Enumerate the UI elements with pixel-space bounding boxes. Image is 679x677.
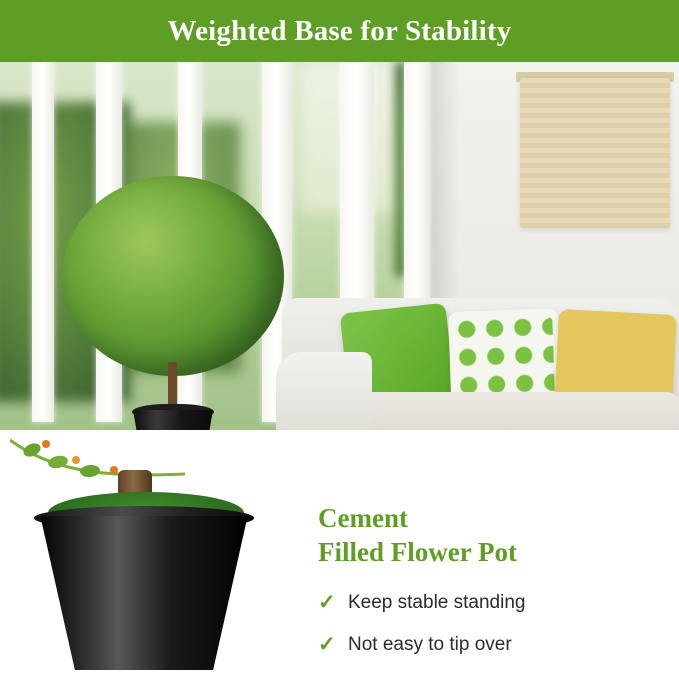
topiary-tree-foliage [62,176,284,376]
check-icon: ✓ [318,634,336,655]
product-feature-image: Weighted Base for Stability [0,0,679,677]
headline-line-1: Cement [318,502,658,536]
header-banner: Weighted Base for Stability [0,0,679,62]
check-icon: ✓ [318,592,336,613]
headline-line-2: Filled Flower Pot [318,536,658,570]
feature-bullet-list: ✓ Keep stable standing ✓ Not easy to tip… [318,592,658,656]
window-blind [32,62,54,422]
bullet-label: Keep stable standing [348,592,525,614]
bullet-label: Not easy to tip over [348,634,512,656]
cement-filled-pot-photo [30,470,260,670]
list-item: ✓ Keep stable standing [318,592,658,614]
roller-shade [520,78,670,228]
feature-headline: Cement Filled Flower Pot [318,502,658,570]
lifestyle-photo [0,62,679,472]
page-title: Weighted Base for Stability [167,15,511,48]
black-cement-filled-pot [36,516,252,670]
feature-text-block: Cement Filled Flower Pot ✓ Keep stable s… [318,502,658,676]
list-item: ✓ Not easy to tip over [318,634,658,656]
lower-section: Cement Filled Flower Pot ✓ Keep stable s… [0,430,679,677]
